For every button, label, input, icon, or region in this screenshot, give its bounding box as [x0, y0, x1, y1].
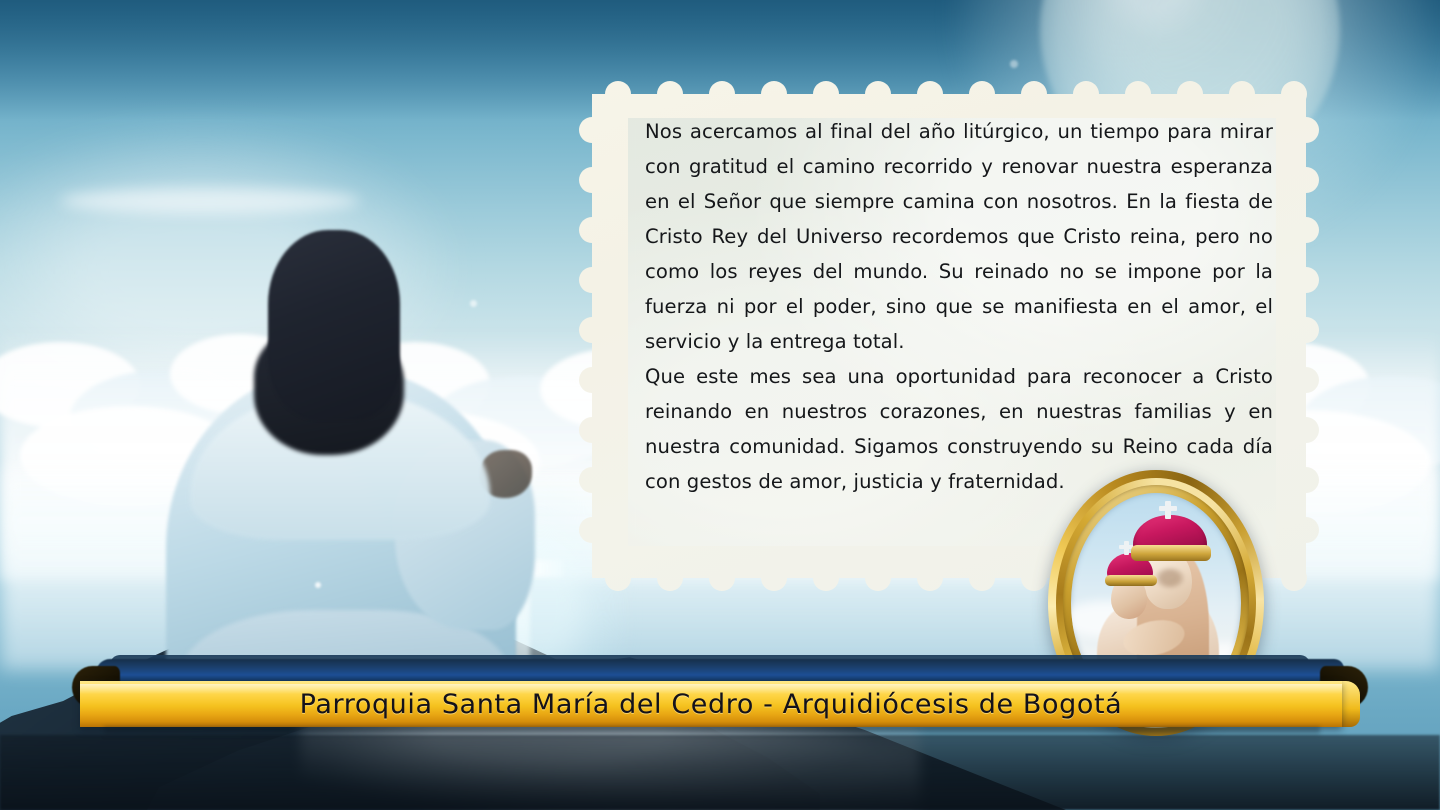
parish-name-ribbon: Parroquia Santa María del Cedro - Arquid… [80, 681, 1342, 727]
sparkle [470, 300, 477, 307]
sparkle [315, 582, 321, 588]
seated-figure [150, 230, 570, 690]
crown-cross-icon-virgin [1165, 501, 1171, 519]
crown-band-child [1105, 575, 1157, 586]
statue-face-shadow [1155, 567, 1185, 589]
card-message-text: Nos acercamos al final del año litúrgico… [645, 114, 1273, 499]
crown-band-virgin [1131, 545, 1211, 561]
sparkle [1010, 60, 1018, 68]
slide-canvas: Nos acercamos al final del año litúrgico… [0, 0, 1440, 810]
card-paragraph-1: Nos acercamos al final del año litúrgico… [645, 114, 1273, 359]
ribbon-drop-shadow [104, 727, 1320, 737]
crown-cross-icon-child [1124, 541, 1129, 555]
ground-shadow [0, 735, 1440, 810]
figure-hair [268, 230, 400, 420]
cloud-wisp [60, 188, 360, 214]
parish-name-label: Parroquia Santa María del Cedro - Arquid… [80, 681, 1342, 727]
